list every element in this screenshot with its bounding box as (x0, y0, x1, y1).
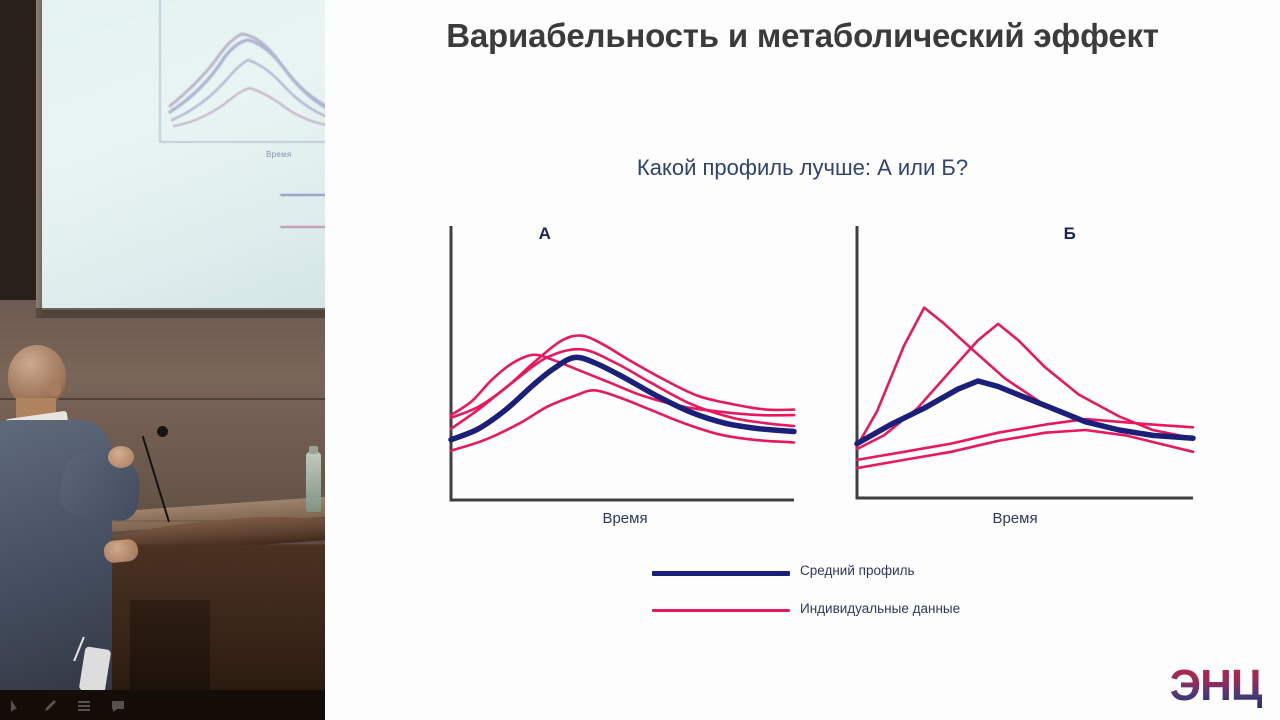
legend-item-mean: Средний профиль (652, 560, 1072, 598)
chart-legend: Средний профиль Индивидуальные данные (652, 560, 1072, 636)
legend-label-individual-data: Индивидуальные данные (800, 601, 960, 616)
chart-panel-a: А Время (435, 218, 805, 518)
page-title: Вариабельность и метаболический эффект (380, 16, 1225, 56)
slide-subtitle: Какой профиль лучше: А или Б? (380, 155, 1225, 181)
projected-legend-swatch-mean (280, 194, 325, 196)
legend-item-individual: Индивидуальные данные (652, 598, 1072, 636)
player-toolbar[interactable] (8, 698, 126, 714)
projection-screen: Время (42, 0, 325, 310)
comment-icon[interactable] (110, 698, 126, 714)
legend-swatch-individual-data (652, 609, 790, 612)
lecture-video-pane[interactable]: Время (0, 0, 325, 720)
list-icon[interactable] (76, 698, 92, 714)
projected-axis-label: Время (266, 150, 292, 159)
chart-panel-b: Б Время (845, 218, 1205, 518)
legend-swatch-mean-profile (652, 571, 790, 576)
individual-data-line (857, 324, 1193, 449)
water-bottle-cap (309, 446, 318, 454)
enc-logo: ЭНЦ (1170, 664, 1262, 708)
pen-icon[interactable] (42, 698, 58, 714)
chart-b-xlabel: Время (945, 510, 1085, 527)
water-bottle (306, 452, 321, 512)
projected-legend-swatch-individual (280, 226, 325, 228)
speaker-ear (48, 380, 61, 397)
video-slide-stage: Время Вариабельность и метаболический эф… (0, 0, 1280, 720)
chart-a-plot (435, 218, 805, 508)
chart-a-xlabel: Время (555, 510, 695, 527)
cursor-icon[interactable] (8, 698, 24, 714)
projected-chart (42, 0, 325, 194)
chart-b-plot (845, 218, 1205, 508)
projection-screen-shadow (36, 308, 325, 318)
speaker-hand-raised (108, 446, 134, 468)
legend-label-mean-profile: Средний профиль (800, 563, 915, 578)
slide-surface: Вариабельность и метаболический эффект К… (325, 0, 1280, 720)
microphone-head (157, 426, 168, 437)
